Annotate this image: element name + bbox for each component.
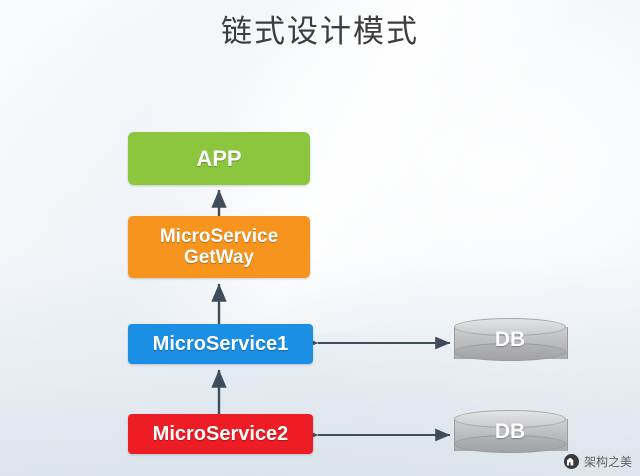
node-database-1-label: DB	[454, 328, 566, 352]
node-gateway-label-line2: GetWay	[184, 247, 254, 268]
node-database-1[interactable]: DB	[454, 318, 566, 366]
node-gateway-label-line1: MicroService	[160, 226, 278, 247]
page-title: 链式设计模式	[0, 6, 640, 51]
node-gateway-label: MicroService GetWay	[160, 226, 278, 268]
node-database-2[interactable]: DB	[454, 410, 566, 458]
watermark-text: 架构之美	[584, 453, 632, 470]
wechat-official-account-icon	[564, 454, 579, 469]
watermark: 架构之美	[564, 453, 632, 470]
node-microservice2[interactable]: MicroService2	[128, 414, 313, 454]
slide-canvas: 链式设计模式 APP MicroService GetWay MicroServ…	[0, 0, 640, 476]
node-microservice1[interactable]: MicroService1	[128, 324, 313, 364]
node-microservice2-label: MicroService2	[153, 424, 289, 445]
node-app[interactable]: APP	[128, 132, 310, 185]
node-app-label: APP	[196, 148, 241, 169]
node-microservice1-label: MicroService1	[153, 334, 289, 355]
node-database-2-label: DB	[454, 420, 566, 444]
connector-layer	[0, 0, 640, 476]
node-microservice-gateway[interactable]: MicroService GetWay	[128, 216, 310, 278]
